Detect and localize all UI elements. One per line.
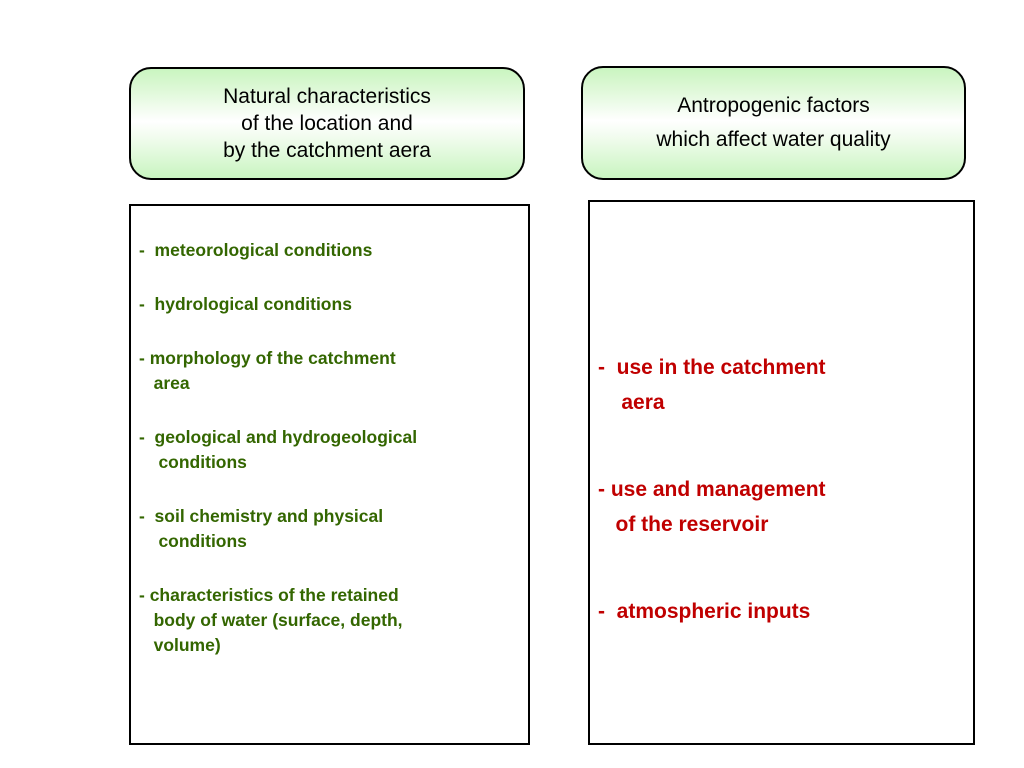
list-item: - hydrological conditions bbox=[139, 292, 522, 317]
left-header-box: Natural characteristics of the location … bbox=[129, 67, 525, 180]
list-item: - morphology of the catchment area bbox=[139, 346, 522, 396]
left-header-line-2: of the location and bbox=[241, 110, 413, 137]
slide-canvas: Natural characteristics of the location … bbox=[0, 0, 1024, 768]
right-header-line-1: Antropogenic factors bbox=[677, 89, 870, 123]
left-header-line-3: by the catchment aera bbox=[223, 137, 431, 164]
list-item: - meteorological conditions bbox=[139, 238, 522, 263]
left-list-box: - meteorological conditions - hydrologic… bbox=[129, 204, 530, 745]
list-item: - geological and hydrogeological conditi… bbox=[139, 425, 522, 475]
list-item: - characteristics of the retained body o… bbox=[139, 583, 522, 658]
list-item: - use in the catchment aera bbox=[598, 350, 967, 420]
left-header-line-1: Natural characteristics bbox=[223, 83, 431, 110]
list-item: - atmospheric inputs bbox=[598, 594, 967, 629]
right-bullet-list: - use in the catchment aera - use and ma… bbox=[598, 350, 967, 629]
list-item: - use and management of the reservoir bbox=[598, 472, 967, 542]
left-bullet-list: - meteorological conditions - hydrologic… bbox=[139, 238, 522, 658]
right-header-box: Antropogenic factors which affect water … bbox=[581, 66, 966, 180]
right-list-box: - use in the catchment aera - use and ma… bbox=[588, 200, 975, 745]
right-header-line-2: which affect water quality bbox=[656, 123, 890, 157]
list-item: - soil chemistry and physical conditions bbox=[139, 504, 522, 554]
